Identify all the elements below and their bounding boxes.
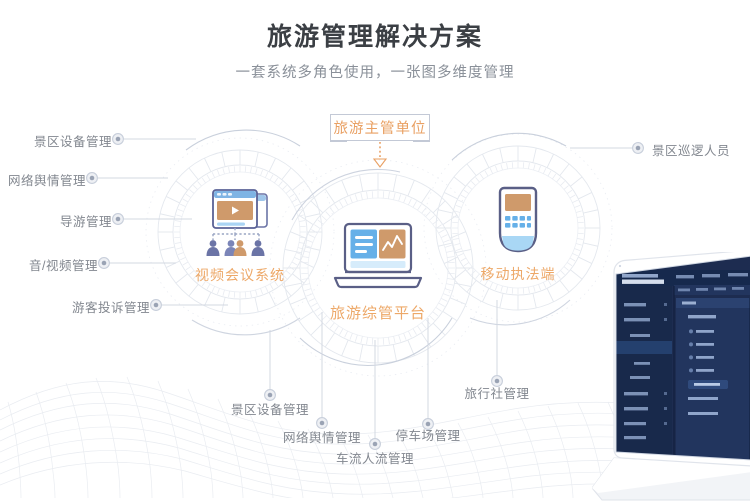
authority-arrow-icon [374,142,386,167]
page-title: 旅游管理解决方案 [0,0,750,53]
left-label-3[interactable]: 音/视频管理 [0,255,98,274]
bottom-label-4[interactable]: 旅行社管理 [437,383,557,402]
header: 旅游管理解决方案 一套系统多角色使用，一张图多维度管理 [0,0,750,83]
left-label-1[interactable]: 网络舆情管理 [0,170,86,189]
mobile-device-icon [491,185,545,257]
node-tourism-platform[interactable]: 旅游综管平台 [328,222,428,323]
node-label: 移动执法端 [468,264,568,284]
bottom-label-0[interactable]: 景区设备管理 [210,399,330,418]
left-label-2[interactable]: 导游管理 [0,211,112,230]
authority-box[interactable]: 旅游主管单位 [330,114,430,140]
right-label-0[interactable]: 景区巡逻人员 [652,140,730,159]
video-conference-icon [201,188,279,260]
laptop-dashboard-icon [328,222,428,296]
node-video-conference[interactable]: 视频会议系统 [190,188,290,285]
left-label-0[interactable]: 景区设备管理 [0,131,112,150]
bottom-label-3[interactable]: 停车场管理 [368,425,488,444]
authority-label: 旅游主管单位 [332,117,429,138]
solution-diagram: 旅游管理解决方案 一套系统多角色使用，一张图多维度管理 旅游主管单位 [0,0,750,498]
node-label: 旅游综管平台 [328,302,428,323]
bottom-label-2[interactable]: 车流人流管理 [315,448,435,467]
node-label: 视频会议系统 [190,265,290,285]
node-mobile-enforcement[interactable]: 移动执法端 [468,185,568,284]
left-label-4[interactable]: 游客投诉管理 [0,297,150,316]
bottom-label-1[interactable]: 网络舆情管理 [262,427,382,446]
page-subtitle: 一套系统多角色使用，一张图多维度管理 [0,53,750,83]
laptop-dashboard-mockup [592,252,750,502]
